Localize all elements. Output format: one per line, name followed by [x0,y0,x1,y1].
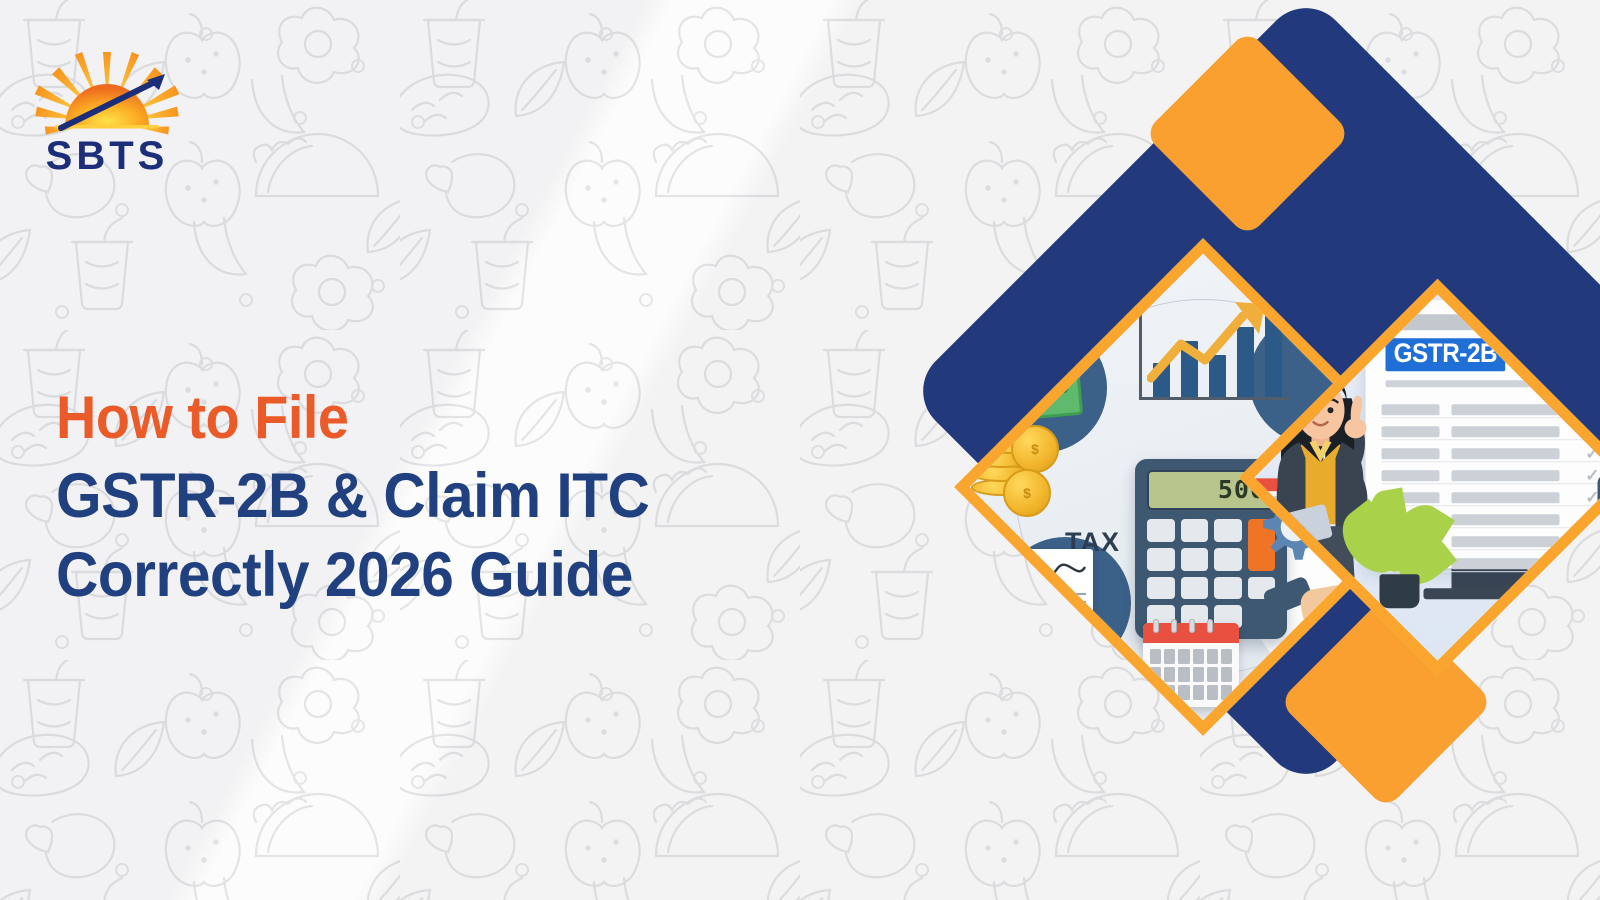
sbts-wordmark: SBTS [22,136,192,176]
potted-plant-icon [1344,488,1454,608]
calendar-icon [1143,623,1239,707]
headline-block: How to File GSTR-2B & Claim ITC Correctl… [56,378,876,615]
headline-line-1: How to File [56,378,819,457]
gstr-2b-badge: GSTR-2B [1386,338,1506,371]
bar-chart-icon [1139,285,1289,400]
headline-line-3: Correctly 2026 Guide [56,536,819,615]
sbts-logo[interactable]: SBTS [22,28,192,178]
headline-line-2: GSTR-2B & Claim ITC [56,457,819,536]
banner-canvas: $ $ $ [0,0,1600,900]
